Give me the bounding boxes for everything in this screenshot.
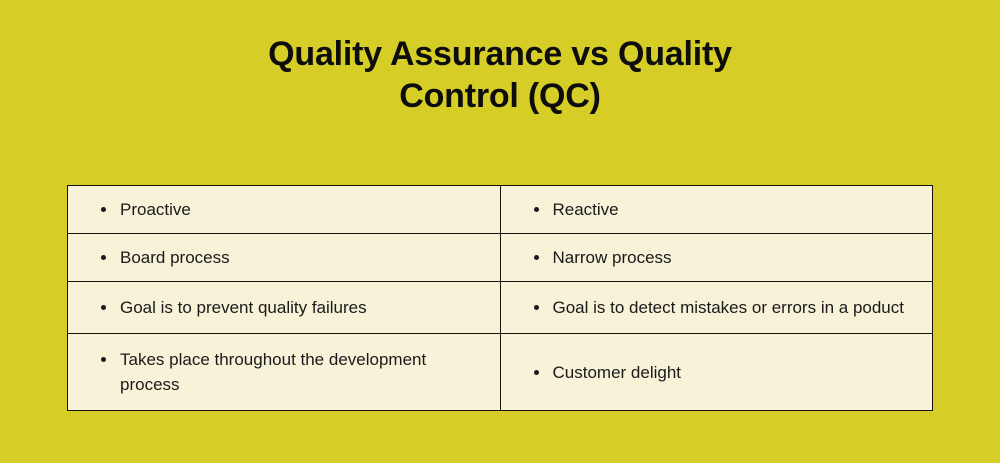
- bullet-list: Reactive: [531, 197, 915, 222]
- table-cell-qa: Takes place throughout the development p…: [68, 334, 501, 411]
- list-item: Takes place throughout the development p…: [120, 347, 482, 397]
- bullet-list: Narrow process: [531, 245, 915, 270]
- cell-content: Board process: [68, 234, 500, 281]
- page-title-line-1: Quality Assurance vs Quality: [0, 33, 1000, 75]
- cell-content: Proactive: [68, 186, 500, 233]
- list-item: Reactive: [553, 197, 915, 222]
- comparison-table: Proactive Reactive Board p: [67, 185, 933, 411]
- list-item: Goal is to prevent quality failures: [120, 295, 482, 320]
- cell-content: Takes place throughout the development p…: [68, 334, 500, 410]
- table-row: Board process Narrow process: [68, 234, 933, 282]
- table-row: Takes place throughout the development p…: [68, 334, 933, 411]
- bullet-list: Goal is to detect mistakes or errors in …: [531, 295, 915, 320]
- list-item: Customer delight: [553, 360, 915, 385]
- bullet-list: Takes place throughout the development p…: [98, 347, 482, 397]
- cell-content: Reactive: [501, 186, 933, 233]
- table-cell-qc: Goal is to detect mistakes or errors in …: [500, 282, 933, 334]
- table-cell-qa: Proactive: [68, 186, 501, 234]
- cell-content: Narrow process: [501, 234, 933, 281]
- table-cell-qa: Board process: [68, 234, 501, 282]
- cell-content: Customer delight: [501, 347, 933, 398]
- list-item: Goal is to detect mistakes or errors in …: [553, 295, 915, 320]
- bullet-list: Proactive: [98, 197, 482, 222]
- slide-canvas: Quality Assurance vs Quality Control (QC…: [0, 0, 1000, 463]
- page-title-line-2: Control (QC): [0, 75, 1000, 117]
- table-cell-qc: Narrow process: [500, 234, 933, 282]
- page-title: Quality Assurance vs Quality Control (QC…: [0, 33, 1000, 117]
- table-row: Goal is to prevent quality failures Goal…: [68, 282, 933, 334]
- list-item: Board process: [120, 245, 482, 270]
- table-cell-qc: Reactive: [500, 186, 933, 234]
- bullet-list: Board process: [98, 245, 482, 270]
- list-item: Narrow process: [553, 245, 915, 270]
- cell-content: Goal is to detect mistakes or errors in …: [501, 282, 933, 333]
- bullet-list: Customer delight: [531, 360, 915, 385]
- bullet-list: Goal is to prevent quality failures: [98, 295, 482, 320]
- table-cell-qc: Customer delight: [500, 334, 933, 411]
- table-body: Proactive Reactive Board p: [68, 186, 933, 411]
- table-cell-qa: Goal is to prevent quality failures: [68, 282, 501, 334]
- table-row: Proactive Reactive: [68, 186, 933, 234]
- cell-content: Goal is to prevent quality failures: [68, 282, 500, 333]
- list-item: Proactive: [120, 197, 482, 222]
